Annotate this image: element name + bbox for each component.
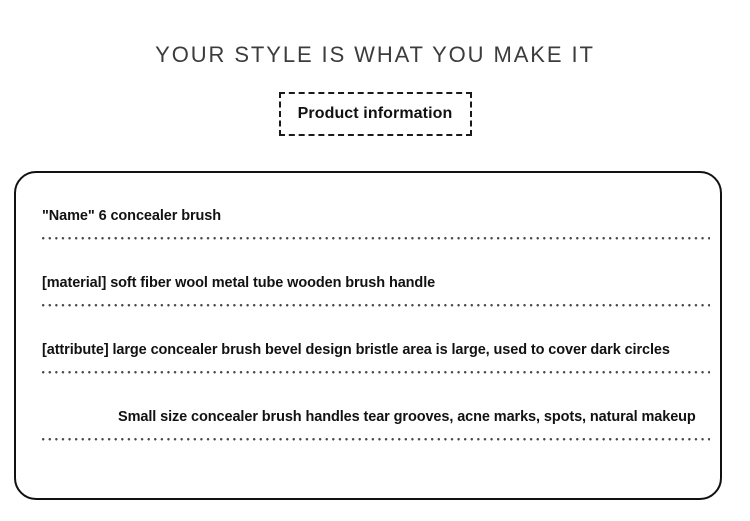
- list-item: [material] soft fiber wool metal tube wo…: [42, 240, 710, 307]
- spec-row-text: [attribute] large concealer brush bevel …: [42, 340, 670, 360]
- spec-row-text: Small size concealer brush handles tear …: [118, 407, 696, 427]
- page-title: YOUR STYLE IS WHAT YOU MAKE IT: [0, 41, 750, 69]
- dotted-divider: [42, 438, 710, 441]
- list-item: "Name" 6 concealer brush: [42, 173, 710, 240]
- spec-row-text: "Name" 6 concealer brush: [42, 206, 221, 226]
- product-information-badge: Product information: [279, 92, 472, 136]
- section-heading-wrapper: Product information: [0, 92, 750, 136]
- product-spec-list: "Name" 6 concealer brush [material] soft…: [16, 173, 720, 498]
- list-item: Small size concealer brush handles tear …: [42, 374, 710, 441]
- product-information-page: YOUR STYLE IS WHAT YOU MAKE IT Product i…: [0, 0, 750, 521]
- product-information-badge-label: Product information: [298, 105, 453, 123]
- spec-row-text: [material] soft fiber wool metal tube wo…: [42, 273, 435, 293]
- list-item: [attribute] large concealer brush bevel …: [42, 307, 710, 374]
- product-information-panel: "Name" 6 concealer brush [material] soft…: [14, 171, 722, 500]
